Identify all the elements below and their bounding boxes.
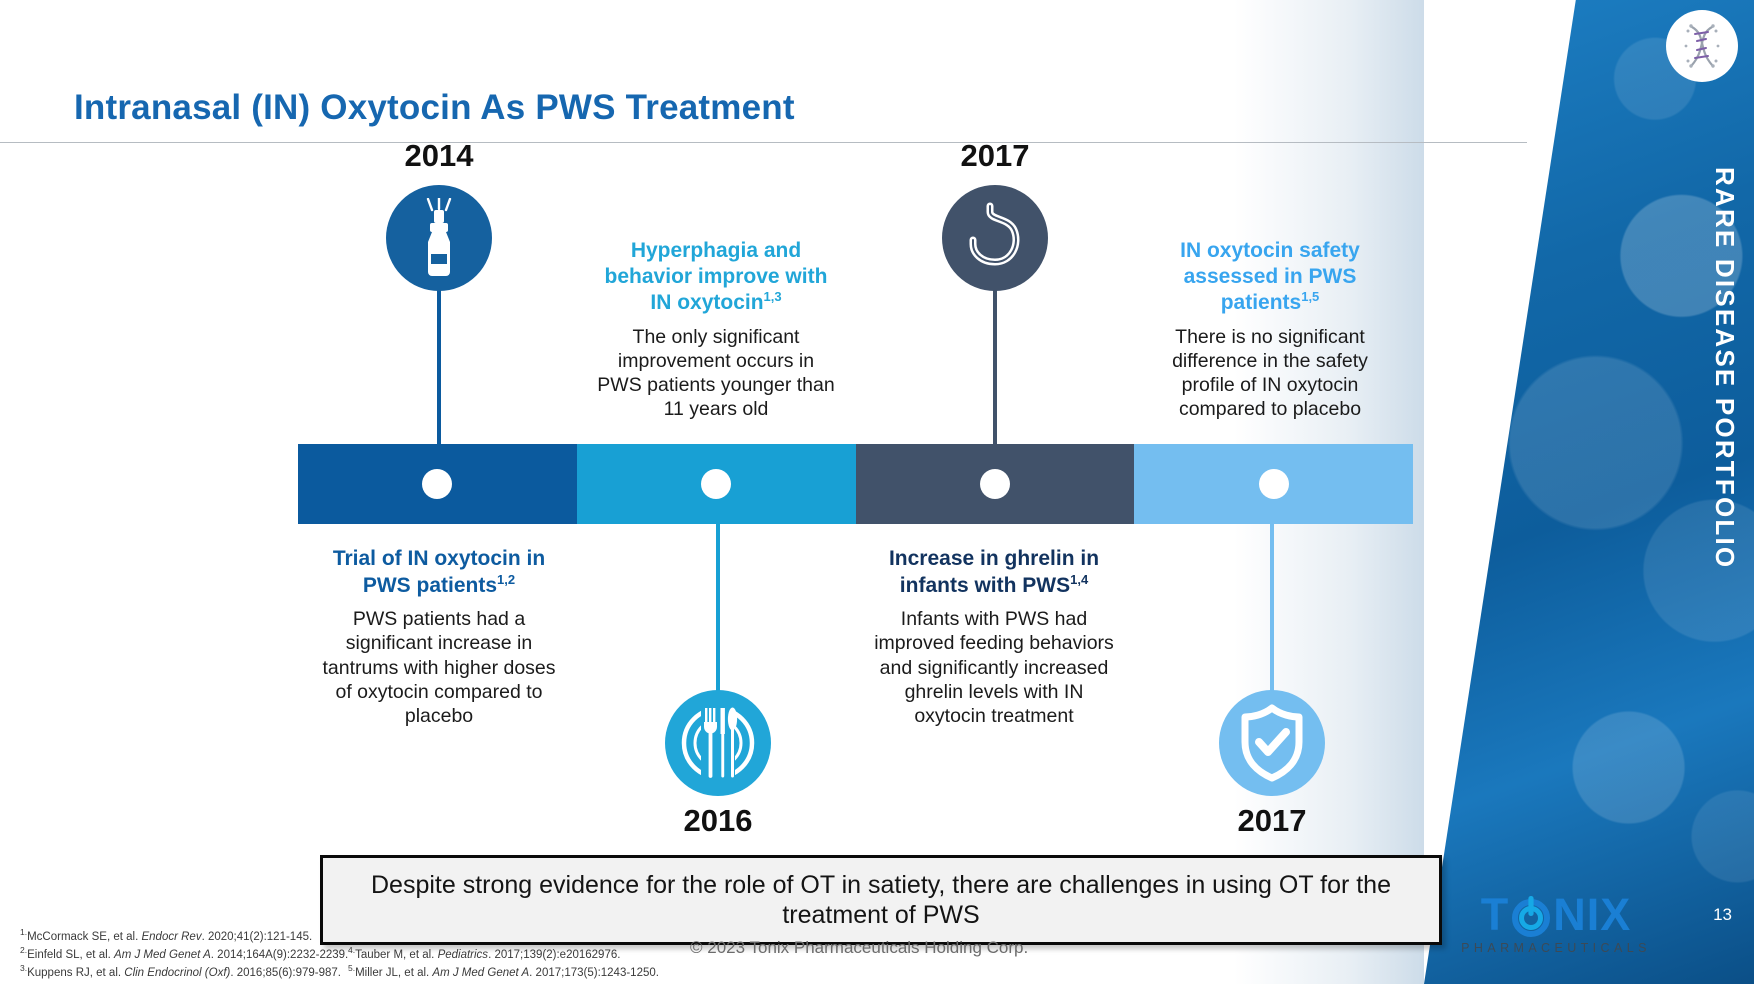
callout-text: Despite strong evidence for the role of … — [323, 870, 1439, 931]
footnote-4-a: Tauber M, et al. — [355, 949, 437, 961]
footnote-5: 5.Miller JL, et al. Am J Med Genet A. 20… — [348, 962, 659, 982]
callout-line-1: Despite strong evidence for the role of … — [371, 871, 1272, 899]
text-block-1: Trial of IN oxytocin in PWS patients1,2 … — [317, 546, 561, 728]
stem-2 — [716, 520, 720, 705]
power-o-icon — [1510, 893, 1552, 937]
icon-circle-2[interactable] — [665, 690, 771, 796]
stem-4 — [1270, 520, 1274, 705]
year-label-1: 2014 — [349, 138, 529, 174]
text-block-2: Hyperphagia and behavior improve with IN… — [594, 238, 838, 422]
page-title: Intranasal (IN) Oxytocin As PWS Treatmen… — [74, 88, 795, 128]
year-label-3: 2017 — [905, 138, 1085, 174]
footnote-2-b: . 2014;164A(9):2232-2239. — [211, 949, 348, 961]
footnote-1-b: . 2020;41(2):121-145. — [202, 931, 313, 943]
tonix-logo-subtitle: PHARMACEUTICALS — [1436, 941, 1676, 955]
footnote-1-journal: Endocr Rev — [141, 931, 201, 943]
footnote-1-a: McCormack SE, et al. — [27, 931, 141, 943]
timeline-node-4 — [1259, 469, 1289, 499]
timeline-node-1 — [422, 469, 452, 499]
heading-1-sup: 1,2 — [497, 572, 515, 587]
text-block-4-heading: IN oxytocin safety assessed in PWS patie… — [1148, 238, 1392, 316]
footnote-3-journal: Clin Endocrinol (Oxf) — [124, 967, 230, 979]
text-block-4: IN oxytocin safety assessed in PWS patie… — [1148, 238, 1392, 422]
footnote-4-journal: Pediatrics — [438, 949, 489, 961]
heading-2-text: Hyperphagia and behavior improve with IN… — [605, 239, 828, 314]
timeline-node-2 — [701, 469, 731, 499]
text-block-1-heading: Trial of IN oxytocin in PWS patients1,2 — [317, 546, 561, 598]
year-label-2: 2016 — [628, 803, 808, 839]
text-block-3: Increase in ghrelin in infants with PWS1… — [872, 546, 1116, 728]
page-number: 13 — [1713, 905, 1732, 925]
timeline-node-3 — [980, 469, 1010, 499]
dna-icon — [1675, 19, 1729, 73]
slide-canvas: RARE DISEASE PORTFOLIO Intranasal (I — [0, 0, 1754, 984]
dna-badge — [1666, 10, 1738, 82]
callout-box: Despite strong evidence for the role of … — [320, 855, 1442, 945]
heading-2-sup: 1,3 — [764, 289, 782, 304]
icon-circle-4[interactable] — [1219, 690, 1325, 796]
icon-circle-3[interactable] — [942, 185, 1048, 291]
nasal-spray-icon — [406, 198, 472, 278]
footnote-5-a: Miller JL, et al. — [355, 967, 432, 979]
footnote-3: 3.Kuppens RJ, et al. Clin Endocrinol (Ox… — [20, 962, 341, 982]
footnote-3-b: . 2016;85(6):979-987. — [230, 967, 341, 979]
tonix-logo-nix: NIX — [1553, 892, 1631, 937]
timeline-segment-4[interactable] — [1134, 444, 1413, 524]
timeline-bar — [298, 444, 1413, 524]
footnote-3-a: Kuppens RJ, et al. — [27, 967, 124, 979]
stomach-icon — [957, 200, 1033, 276]
timeline-segment-1[interactable] — [298, 444, 577, 524]
text-block-3-body: Infants with PWS had improved feeding be… — [872, 607, 1116, 728]
title-divider — [0, 142, 1527, 143]
side-banner-label: RARE DISEASE PORTFOLIO — [1698, 118, 1740, 618]
year-label-4: 2017 — [1182, 803, 1362, 839]
text-block-2-heading: Hyperphagia and behavior improve with IN… — [594, 238, 838, 316]
footnote-5-journal: Am J Med Genet A — [432, 967, 529, 979]
text-block-2-body: The only significant improvement occurs … — [594, 325, 838, 422]
heading-4-text: IN oxytocin safety assessed in PWS patie… — [1180, 239, 1360, 314]
tonix-wordmark: T NIX — [1436, 892, 1676, 937]
stem-1 — [437, 268, 441, 448]
timeline-segment-2[interactable] — [577, 444, 856, 524]
text-block-1-body: PWS patients had a significant increase … — [317, 607, 561, 728]
heading-3-text: Increase in ghrelin in infants with PWS — [889, 547, 1099, 597]
footnote-2-journal: Am J Med Genet A — [114, 949, 211, 961]
footnote-4-b: . 2017;139(2):e20162976. — [488, 949, 620, 961]
text-block-4-body: There is no significant difference in th… — [1148, 325, 1392, 422]
shield-check-icon — [1237, 704, 1307, 782]
copyright-text: © 2023 Tonix Pharmaceuticals Holding Cor… — [690, 938, 1028, 958]
tonix-logo-t: T — [1481, 892, 1510, 937]
tonix-logo: T NIX PHARMACEUTICALS — [1436, 892, 1676, 955]
icon-circle-1[interactable] — [386, 185, 492, 291]
footnote-2-a: Einfeld SL, et al. — [27, 949, 114, 961]
plate-cutlery-icon — [675, 700, 761, 786]
text-block-3-heading: Increase in ghrelin in infants with PWS1… — [872, 546, 1116, 598]
timeline-segment-3[interactable] — [856, 444, 1135, 524]
heading-3-sup: 1,4 — [1070, 572, 1088, 587]
footnote-5-b: . 2017;173(5):1243-1250. — [529, 967, 659, 979]
heading-4-sup: 1,5 — [1301, 289, 1319, 304]
stem-3 — [993, 268, 997, 448]
